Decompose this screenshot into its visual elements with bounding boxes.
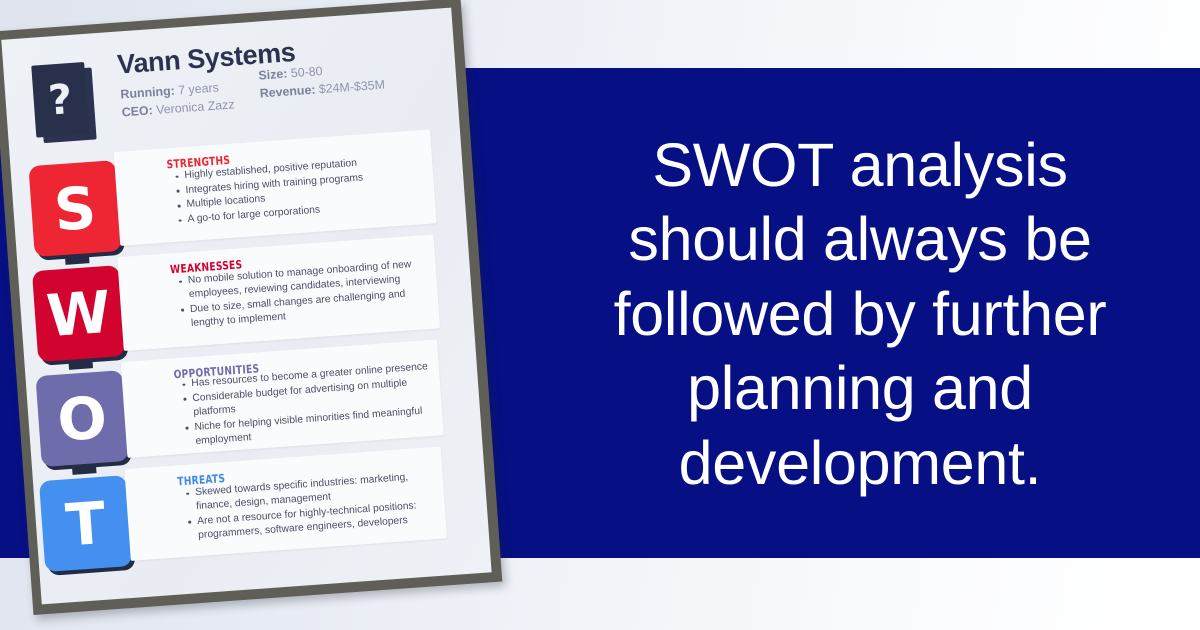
swot-tile-threats: T bbox=[39, 475, 132, 572]
swot-poster-frame: ? Vann Systems Running: 7 years CEO: Ver… bbox=[0, 0, 502, 615]
swot-poster-container: ? Vann Systems Running: 7 years CEO: Ver… bbox=[8, 4, 528, 624]
company-meta-left: Running: 7 years CEO: Veronica Zazz bbox=[120, 78, 235, 122]
quote-text: SWOT analysis should always be followed … bbox=[560, 128, 1160, 500]
swot-poster-page: ? Vann Systems Running: 7 years CEO: Ver… bbox=[1, 8, 491, 605]
swot-panel-weaknesses: WEAKNESSES No mobile solution to manage … bbox=[117, 234, 440, 350]
swot-tile-opportunities: O bbox=[35, 370, 128, 467]
swot-panel-threats: THREATS Skewed towards specific industri… bbox=[124, 447, 447, 561]
document-front-card: ? bbox=[31, 62, 89, 138]
meta-running-label: Running: bbox=[120, 84, 175, 102]
question-mark-document-icon: ? bbox=[31, 62, 92, 141]
meta-revenue-label: Revenue: bbox=[259, 83, 316, 101]
meta-size-value: 50-80 bbox=[290, 64, 323, 80]
meta-size-label: Size: bbox=[258, 67, 288, 83]
meta-revenue-value: $24M-$35M bbox=[318, 78, 385, 97]
question-mark-glyph: ? bbox=[47, 79, 74, 122]
swot-tile-strengths: S bbox=[28, 160, 121, 257]
swot-tile-weaknesses: W bbox=[32, 265, 125, 362]
swot-panel-opportunities: OPPORTUNITIES Has resources to become a … bbox=[121, 340, 444, 458]
meta-ceo-value: Veronica Zazz bbox=[156, 97, 235, 117]
meta-running-value: 7 years bbox=[178, 80, 220, 97]
meta-ceo-label: CEO: bbox=[121, 103, 153, 119]
quote-panel: SWOT analysis should always be followed … bbox=[560, 118, 1160, 510]
company-meta-right: Size: 50-80 Revenue: $24M-$35M bbox=[258, 59, 386, 104]
